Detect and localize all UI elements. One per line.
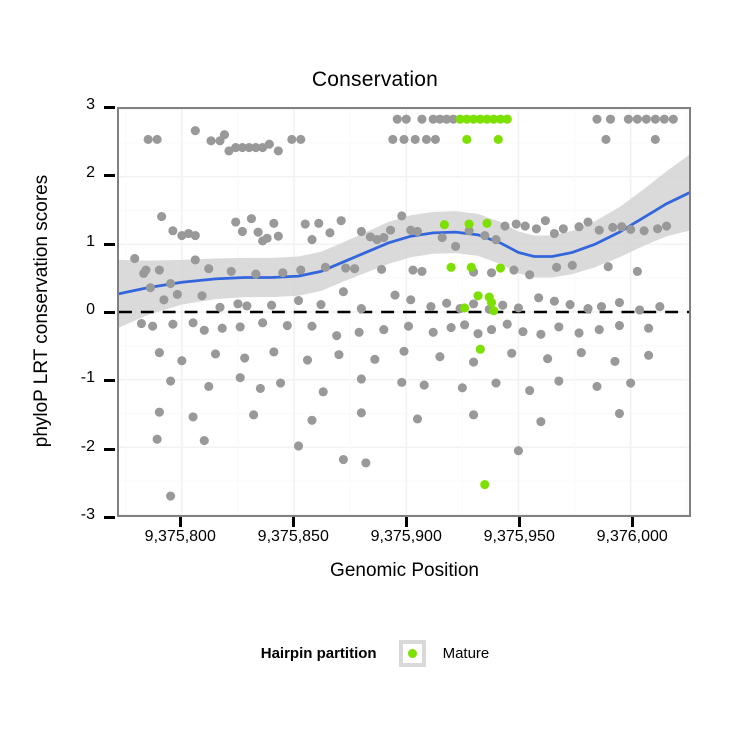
legend-key-mature[interactable] [399,640,426,667]
y-tick-label: -3 [55,506,95,524]
chart-legend: Hairpin partition Mature [0,640,750,667]
y-tick-mark [104,448,115,451]
y-tick-label: 2 [55,164,95,182]
plot-panel [117,107,691,517]
legend-marker-icon [408,649,417,658]
y-tick-label: 1 [55,233,95,251]
y-tick-label: -2 [55,438,95,456]
y-tick-label: -1 [55,369,95,387]
x-tick-label: 9,376,000 [562,528,702,546]
x-axis-label: Genomic Position [117,560,692,582]
legend-title: Hairpin partition [261,645,377,662]
plot-area [119,109,689,515]
x-tick-mark [179,517,182,527]
y-tick-label: 0 [55,301,95,319]
y-tick-label: 3 [55,96,95,114]
y-tick-mark [104,106,115,109]
chart-figure: Conservation phyloP LRT conservation sco… [0,0,750,750]
y-tick-mark [104,516,115,519]
x-tick-mark [405,517,408,527]
y-tick-mark [104,174,115,177]
y-tick-mark [104,379,115,382]
legend-label-mature: Mature [443,645,490,662]
y-tick-mark [104,243,115,246]
y-tick-mark [104,311,115,314]
y-axis-label: phyloP LRT conservation scores [31,101,53,521]
chart-title: Conservation [0,68,750,92]
x-tick-mark [518,517,521,527]
x-tick-mark [631,517,634,527]
x-tick-mark [292,517,295,527]
